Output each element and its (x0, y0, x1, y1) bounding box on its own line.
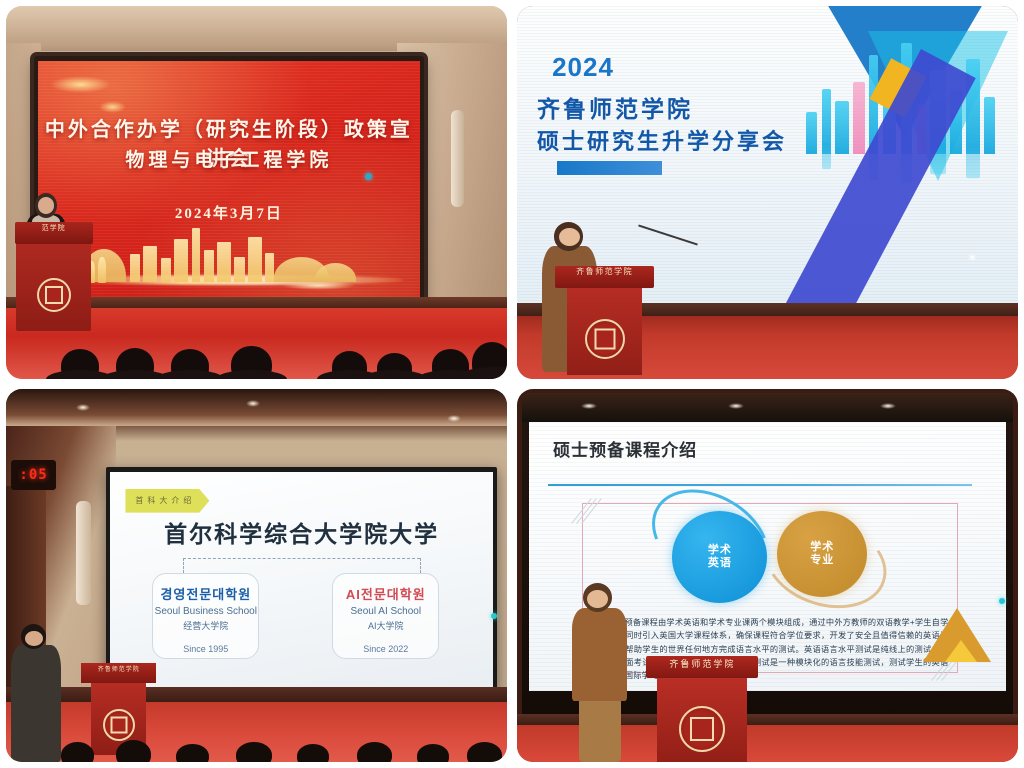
circle-label-line2: 英语 (708, 557, 732, 569)
university-seal-icon (585, 319, 625, 359)
card-ai-school[interactable]: AI전문대학원 Seoul AI School AI大学院 Since 2022 (332, 573, 439, 659)
podium: 范学院 (16, 230, 91, 331)
panel-bottom-left[interactable]: :05 首科大介绍 首尔科学综合大学院大学 경영전문대학원 Seoul Busi… (6, 389, 507, 762)
podium-label: 齐鲁师范学院 (649, 657, 756, 670)
connector-line-horizontal (183, 558, 420, 559)
university-seal-icon (37, 278, 71, 312)
slide-title: 首尔科学综合大学院大学 (110, 515, 493, 549)
university-seal-icon (103, 709, 135, 741)
status-indicator-dot (491, 613, 497, 619)
slide-title-line2: 硕士研究生升学分享会 (537, 124, 787, 156)
projection-screen: 首科大介绍 首尔科学综合大学院大学 경영전문대학원 Seoul Business… (110, 472, 493, 687)
podium-label: 齐鲁师范学院 (557, 266, 652, 277)
card-business-school[interactable]: 경영전문대학원 Seoul Business School 经营大学院 Sinc… (152, 573, 259, 659)
card-title-en: Seoul AI School (350, 606, 421, 617)
led-screen: 中外合作办学（研究生阶段）政策宣讲会 物理与电子工程学院 2024年3月7日 (38, 61, 419, 309)
led-screen-frame: 中外合作办学（研究生阶段）政策宣讲会 物理与电子工程学院 2024年3月7日 (34, 56, 425, 313)
sun-glow (281, 281, 357, 290)
card-title-zh: AI大学院 (368, 619, 404, 632)
circle-label-line2: 专业 (810, 554, 834, 566)
triangle-decor-light (945, 640, 977, 662)
panel-top-right[interactable]: ✶ 2024 齐鲁师范学院 硕士研究生升学分享会 齐鲁师范学院 (517, 6, 1018, 379)
stage-light-glow (50, 76, 111, 93)
stage-edge (6, 687, 507, 702)
slide-title-line2: 物理与电子工程学院 (38, 145, 419, 172)
slide-paragraph: 硕士预备课程由学术英语和学术专业课两个模块组成，通过中外方教师的双语教学+学生自… (591, 616, 948, 682)
speaker-figure (572, 583, 627, 762)
stage-light-glow-2 (99, 101, 126, 113)
podium-top: 齐鲁师范学院 (81, 663, 156, 683)
podium-top: 齐鲁师范学院 (646, 656, 758, 677)
university-seal-icon (679, 706, 725, 752)
circle-academic-english: 学术 英语 (672, 511, 767, 603)
podium-label: 齐鲁师范学院 (83, 664, 155, 673)
card-title-ko: 경영전문대학원 (160, 584, 251, 603)
podium-label: 范学院 (18, 223, 90, 233)
slide-date: 2024年3月7日 (38, 202, 419, 223)
title-underline (548, 484, 972, 486)
speaker-figure (11, 624, 61, 762)
circle-label-line1: 学术 (810, 541, 834, 553)
slide-title-line1: 齐鲁师范学院 (537, 90, 693, 124)
panel-bottom-right[interactable]: 硕士预备课程介绍 学术 英语 学术 专业 硕士预备课程由学术英语和学术专业课两个… (517, 389, 1018, 762)
podium-top: 范学院 (15, 222, 93, 244)
slide-title: 硕士预备课程介绍 (553, 436, 697, 461)
accent-bar (557, 161, 662, 175)
podium: 齐鲁师范学院 (567, 275, 642, 376)
podium-top: 齐鲁师范学院 (555, 266, 654, 288)
skyline-graphic (61, 235, 404, 300)
wall-vent (76, 501, 91, 605)
wall-vent (451, 110, 464, 207)
card-title-ko: AI전문대학원 (346, 584, 426, 603)
panel-top-left[interactable]: 中外合作办学（研究生阶段）政策宣讲会 物理与电子工程学院 2024年3月7日 (6, 6, 507, 379)
circle-academic-major: 学术 专业 (777, 511, 867, 597)
photo-collage: 中外合作办学（研究生阶段）政策宣讲会 物理与电子工程学院 2024年3月7日 (0, 0, 1024, 768)
podium: 齐鲁师范学院 (657, 665, 747, 762)
section-tag: 首科大介绍 (125, 489, 209, 513)
card-title-en: Seoul Business School (155, 606, 257, 617)
card-since: Since 2022 (363, 644, 408, 654)
slide-year: 2024 (552, 52, 614, 83)
projection-board: 首科大介绍 首尔科学综合大学院大学 경영전문대학원 Seoul Business… (106, 467, 497, 691)
star-icon: ✶ (967, 250, 978, 266)
card-since: Since 1995 (183, 644, 228, 654)
circle-label-line1: 学术 (708, 544, 732, 556)
status-indicator-dot (365, 173, 372, 180)
led-clock-display: :05 (11, 460, 56, 490)
card-title-zh: 经营大学院 (183, 619, 228, 632)
